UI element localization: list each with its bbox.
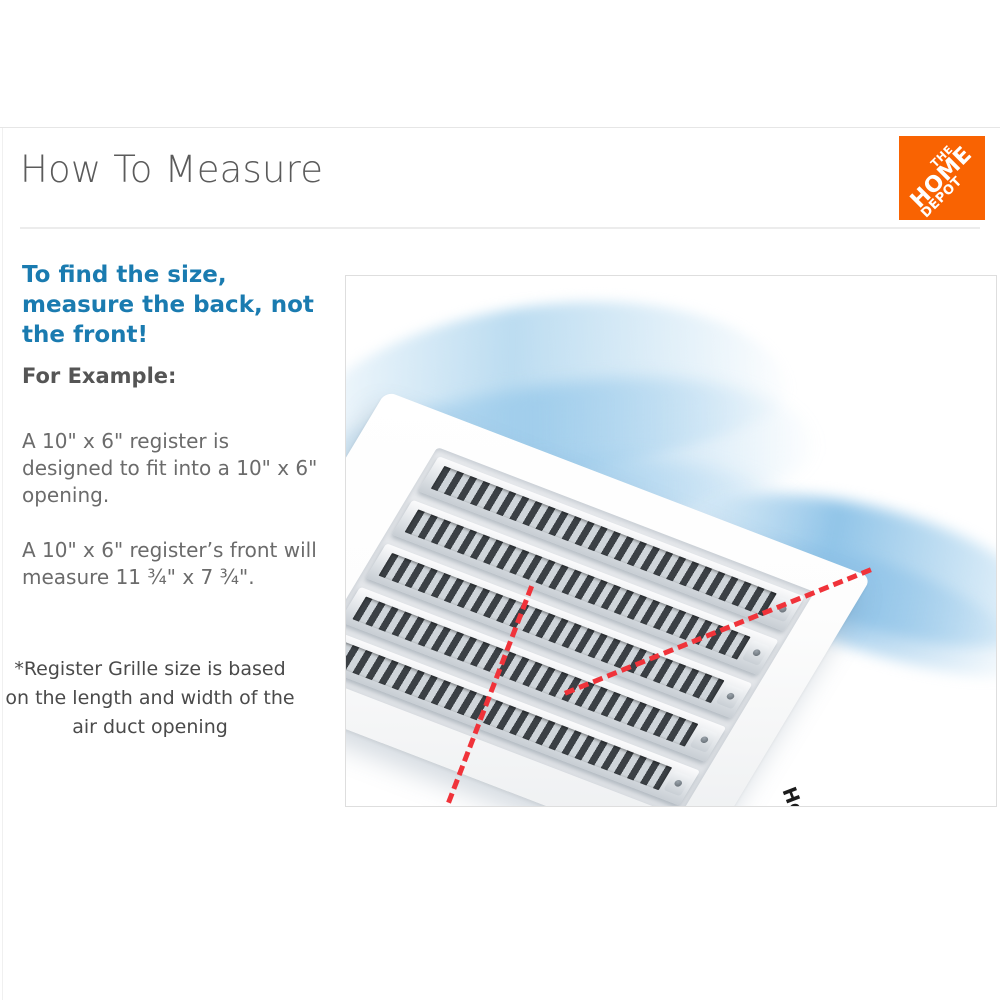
how-to-measure-page: How To Measure THE HOME DEPOT To find th… [0,0,1000,1000]
register-louver-area [345,447,814,807]
left-vertical-rule [2,128,3,1000]
for-example-label: For Example: [22,364,176,388]
example-paragraph-1: A 10" x 6" register is designed to fit i… [22,428,322,509]
product-image-panel: Height/Length- 6 in. Width- 10 in. Measu… [345,275,997,807]
height-dimension-label: Height/Length- 6 in. [777,784,877,807]
page-title: How To Measure [20,148,323,192]
example-paragraph-2: A 10" x 6" register’s front will measure… [22,537,322,591]
air-register-product-image [386,391,966,781]
page-header: How To Measure [0,128,1000,228]
footnote-text: *Register Grille size is based on the le… [0,655,300,742]
header-divider [20,227,980,229]
the-home-depot-logo: THE HOME DEPOT [899,136,985,220]
lede-heading: To find the size, measure the back, not … [22,260,322,350]
